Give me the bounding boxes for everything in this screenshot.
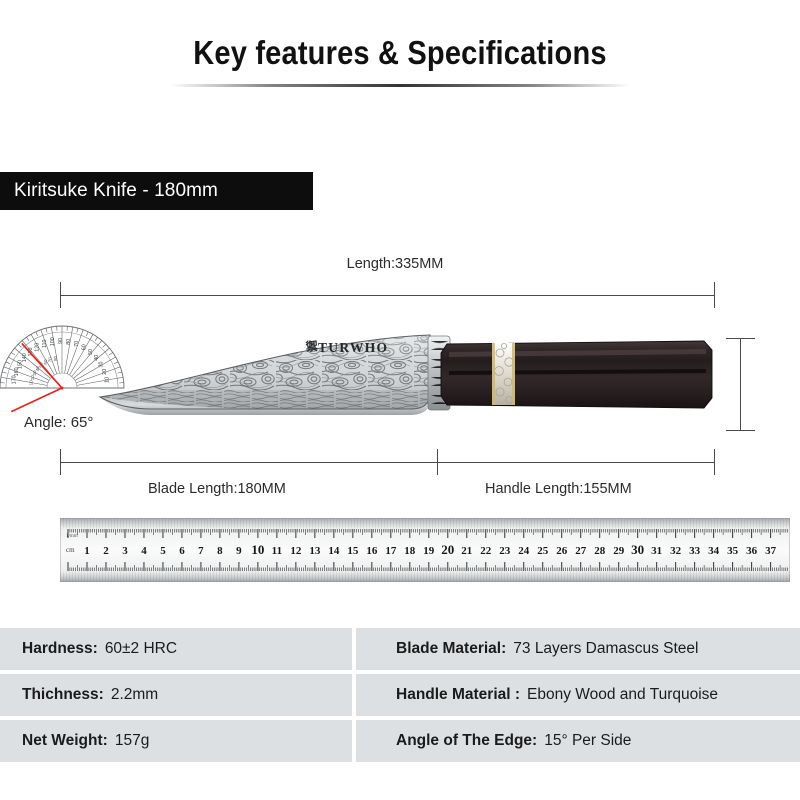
ruler-number: 1	[84, 545, 90, 557]
ruler-number: 25	[537, 545, 549, 557]
table-row: Thichness: 2.2mm Handle Material : Ebony…	[0, 674, 800, 716]
ruler-number: 29	[613, 545, 625, 557]
svg-text:cm: cm	[66, 546, 75, 554]
svg-text:80: 80	[53, 355, 58, 361]
ruler-number: 32	[670, 545, 682, 557]
svg-text:30: 30	[99, 362, 105, 368]
knife-handle	[441, 341, 712, 408]
ruler-number: 21	[461, 545, 472, 557]
ruler-number: 6	[179, 545, 185, 557]
product-name-badge: Kiritsuke Knife - 180mm	[0, 172, 313, 210]
spec-key: Hardness:	[22, 640, 98, 658]
spec-cell-hardness: Hardness: 60±2 HRC	[0, 628, 352, 670]
ruler-number: 22	[480, 545, 492, 557]
ruler-number: 5	[160, 545, 166, 557]
spec-cell-blade-material: Blade Material: 73 Layers Damascus Steel	[356, 628, 800, 670]
total-length-label: Length:335MM	[0, 256, 790, 272]
spec-value: 15° Per Side	[544, 732, 631, 750]
svg-text:80: 80	[66, 339, 72, 345]
segment-tick-right	[714, 449, 715, 475]
ruler-number: 8	[217, 545, 223, 557]
svg-text:110: 110	[42, 340, 48, 349]
ruler-number: 15	[347, 545, 359, 557]
blade-length-label: Blade Length:180MM	[148, 481, 286, 497]
ruler-number: 36	[746, 545, 758, 557]
spec-cell-handle-material: Handle Material : Ebony Wood and Turquoi…	[356, 674, 800, 716]
ruler-number: 3	[122, 545, 128, 557]
total-length-tick-right	[714, 282, 715, 308]
ruler-number: 10	[251, 542, 264, 557]
spec-value: 73 Layers Damascus Steel	[513, 640, 698, 658]
ruler-number: 17	[385, 545, 397, 557]
segment-tick-middle	[437, 449, 438, 475]
ruler-number: 18	[404, 545, 416, 557]
spec-key: Blade Material:	[396, 640, 506, 658]
spec-key: Thichness:	[22, 686, 104, 704]
ruler-number: 7	[198, 545, 204, 557]
spec-value: 2.2mm	[111, 686, 158, 704]
total-length-line	[60, 295, 715, 296]
handle-length-label: Handle Length:155MM	[485, 481, 632, 497]
segment-length-line	[60, 462, 715, 463]
svg-text:10: 10	[104, 377, 110, 383]
ruler-number: 27	[575, 545, 587, 557]
specifications-table: Hardness: 60±2 HRC Blade Material: 73 La…	[0, 628, 800, 762]
spec-cell-thickness: Thichness: 2.2mm	[0, 674, 352, 716]
table-row: Net Weight: 157g Angle of The Edge: 15° …	[0, 720, 800, 762]
spec-cell-net-weight: Net Weight: 157g	[0, 720, 352, 762]
ruler-number: 12	[290, 545, 302, 557]
ruler-number: 20	[441, 542, 454, 557]
spec-key: Net Weight:	[22, 732, 108, 750]
blade-width-label: Blade width 44MM	[745, 332, 800, 439]
ruler-number: 11	[272, 545, 282, 557]
ruler-number: 16	[366, 545, 378, 557]
protractor-overlay: 170 160 150 140 130 120 110 100 90 80 70…	[0, 296, 210, 426]
ruler-number: 33	[689, 545, 701, 557]
angle-baseline	[11, 388, 62, 412]
svg-text:50: 50	[88, 349, 94, 355]
ruler-number: 23	[499, 545, 511, 557]
svg-text:90: 90	[58, 338, 64, 344]
blade-width-line	[740, 338, 741, 430]
ruler-number: 19	[423, 545, 435, 557]
ruler-number: 30	[631, 542, 644, 557]
svg-text:60: 60	[82, 344, 88, 350]
title-divider	[170, 84, 630, 87]
spec-value: Ebony Wood and Turquoise	[527, 686, 718, 704]
svg-text:120: 120	[35, 343, 41, 352]
product-name-label: Kiritsuke Knife - 180mm	[0, 180, 218, 202]
ruler-number: 34	[708, 545, 720, 557]
spec-key: Handle Material :	[396, 686, 520, 704]
page-title: Key features & Specifications	[48, 34, 752, 72]
total-length-tick-left	[60, 282, 61, 308]
table-row: Hardness: 60±2 HRC Blade Material: 73 La…	[0, 628, 800, 670]
spec-key: Angle of The Edge:	[396, 732, 537, 750]
spec-value: 60±2 HRC	[105, 640, 177, 658]
svg-text:70: 70	[74, 341, 80, 347]
ruler-number: 28	[594, 545, 606, 557]
segment-tick-left	[60, 449, 61, 475]
ruler-number: 4	[141, 545, 147, 557]
ruler-number: 26	[556, 545, 568, 557]
svg-text:100: 100	[50, 337, 56, 346]
ruler-number: 35	[727, 545, 739, 557]
ruler-number: 2	[103, 545, 109, 557]
ruler-number: 9	[236, 545, 242, 557]
steel-ruler: cm 1/mm 12345678910111213141516171819202…	[60, 518, 790, 582]
ruler-number: 24	[518, 545, 530, 557]
ruler-number: 14	[328, 545, 340, 557]
svg-text:禦: 禦	[305, 338, 318, 354]
ruler-number: 13	[309, 545, 321, 557]
spec-cell-edge-angle: Angle of The Edge: 15° Per Side	[356, 720, 800, 762]
brand-etch-label: TURWHO	[318, 340, 388, 355]
svg-text:20: 20	[102, 369, 108, 375]
spec-value: 157g	[115, 732, 149, 750]
angle-label: Angle: 65°	[24, 414, 93, 431]
ruler-number: 37	[765, 545, 777, 557]
svg-text:40: 40	[94, 355, 100, 361]
ruler-number: 31	[651, 545, 662, 557]
